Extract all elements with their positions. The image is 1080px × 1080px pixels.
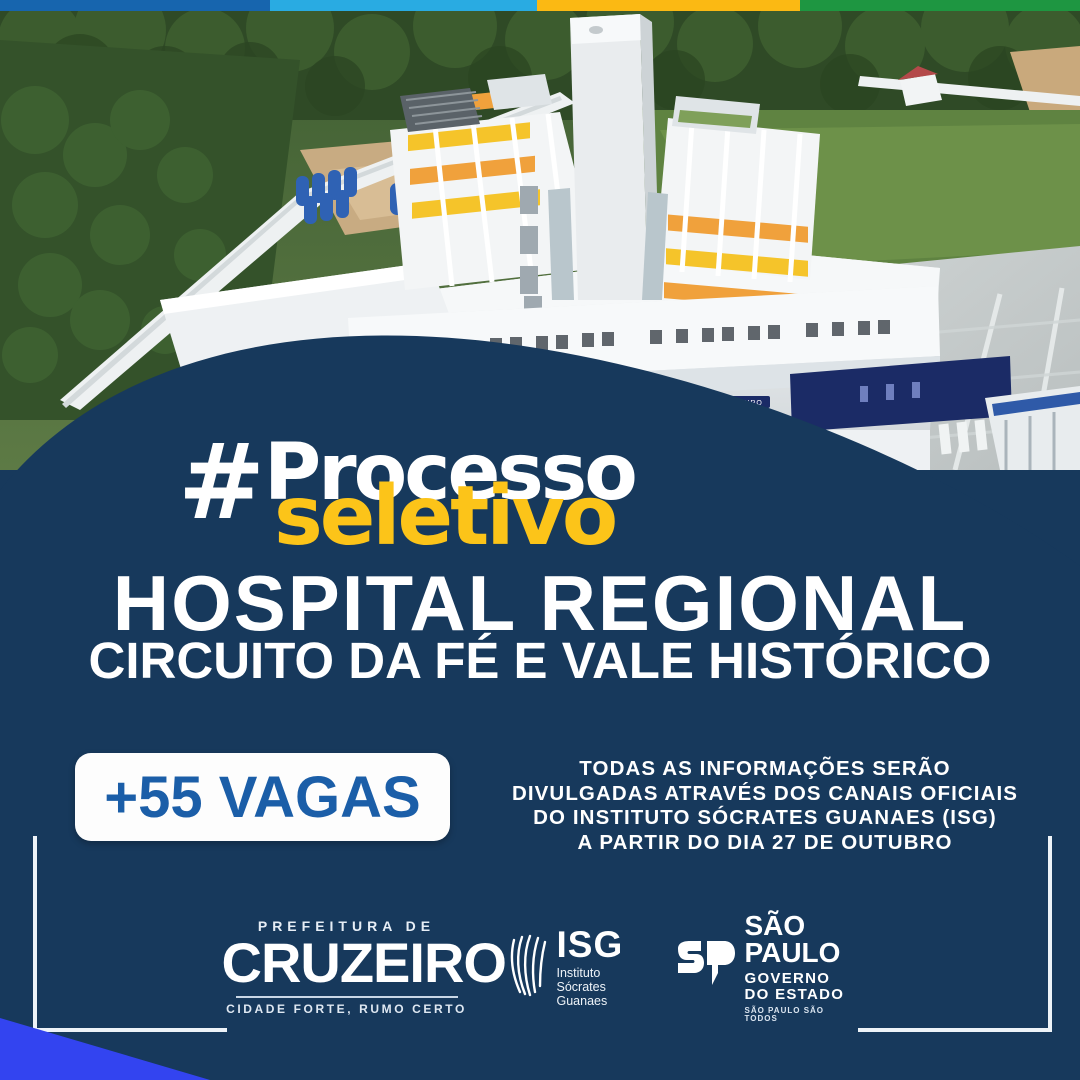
sp-wordmark-line-2: PAULO [745,939,859,966]
info-line-2: DIVULGADAS ATRAVÉS DOS CANAIS OFICIAIS [500,782,1030,807]
info-line-1: TODAS AS INFORMAÇÕES SERÃO [500,757,1030,782]
topbar-segment-blue [0,0,270,11]
sp-wordmark: SÃO PAULO [745,912,859,966]
isg-subtitle-line-3: Guanaes [557,994,624,1008]
isg-text-block: ISG Instituto Sócrates Guanaes [557,926,624,1008]
vacancies-badge: +55 VAGAS [75,753,450,841]
cruzeiro-slogan: CIDADE FORTE, RUMO CERTO [222,1002,472,1016]
poster-content: # Processo seletivo HOSPITAL REGIONAL CI… [0,0,1080,1080]
brand-color-bar [0,0,1080,11]
cruzeiro-wordmark: CRUZEIRO [222,935,472,991]
sp-government-line-2: DO ESTADO [745,987,859,1003]
headline-primary: HOSPITAL REGIONAL [0,563,1080,643]
hashtag-lockup: # Processo seletivo [178,424,598,544]
info-line-3: DO INSTITUTO SÓCRATES GUANAES (ISG) [500,806,1030,831]
topbar-segment-light-blue [270,0,537,11]
isg-wave-icon [508,932,550,1003]
headline-secondary: CIRCUITO DA FÉ E VALE HISTÓRICO [0,634,1080,688]
logo-row: PREFEITURA DE CRUZEIRO CIDADE FORTE, RUM… [0,912,1080,1022]
sp-tagline: SÃO PAULO SÃO TODOS [745,1007,859,1023]
isg-subtitle-line-2: Sócrates [557,980,624,994]
hash-symbol: # [178,430,261,534]
poster-canvas: HOSPITAL REGIONAL DE CRUZEIRO [0,0,1080,1080]
hashtag-word-seletivo: seletivo [274,476,615,558]
cruzeiro-divider [236,996,458,998]
vacancies-badge-label: +55 VAGAS [104,764,420,831]
sp-government-label: GOVERNO DO ESTADO [745,971,859,1003]
logo-sao-paulo: SÃO PAULO GOVERNO DO ESTADO SÃO PAULO SÃ… [674,912,859,1023]
sp-text-block: SÃO PAULO GOVERNO DO ESTADO SÃO PAULO SÃ… [745,912,859,1023]
topbar-segment-yellow [537,0,800,11]
logo-isg: ISG Instituto Sócrates Guanaes [508,926,638,1008]
isg-subtitle-line-1: Instituto [557,966,624,980]
sp-wordmark-line-1: SÃO [745,912,859,939]
isg-subtitle: Instituto Sócrates Guanaes [557,966,624,1008]
sp-government-line-1: GOVERNO [745,971,859,987]
isg-wordmark: ISG [557,926,624,963]
sp-icon [674,939,736,996]
logo-prefeitura-cruzeiro: PREFEITURA DE CRUZEIRO CIDADE FORTE, RUM… [222,918,472,1016]
topbar-segment-green [800,0,1080,11]
